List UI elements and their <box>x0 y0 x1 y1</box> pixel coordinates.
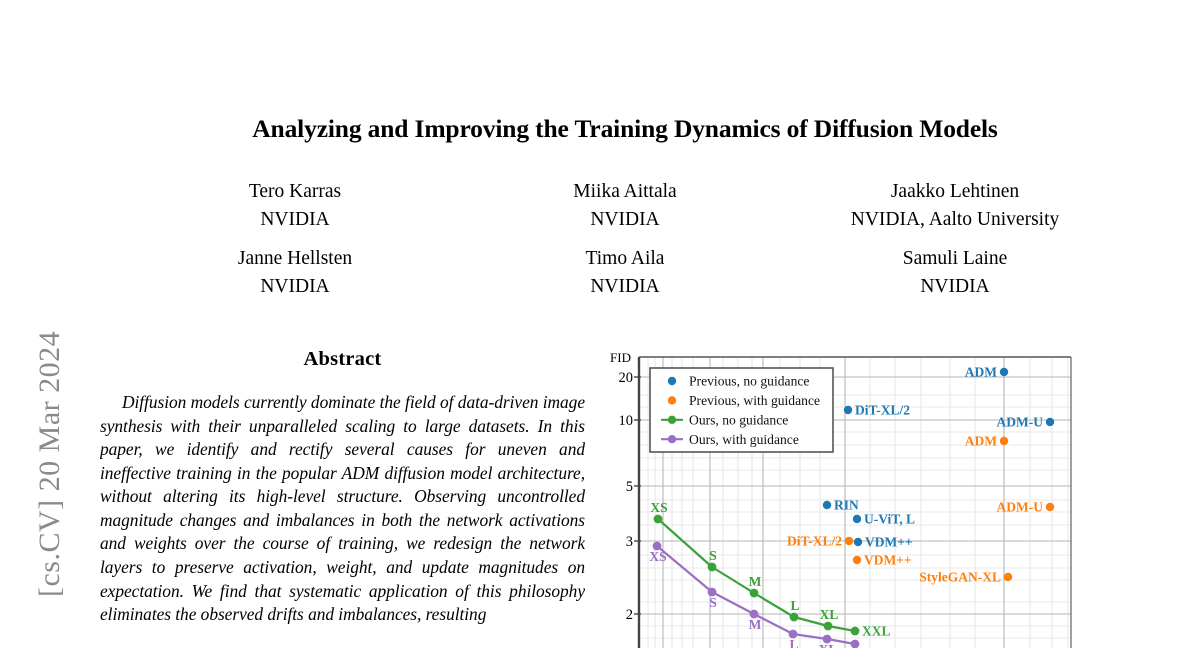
data-point-label: M <box>749 574 762 589</box>
author-row: Janne Hellsten NVIDIA Timo Aila NVIDIA S… <box>130 245 1120 300</box>
data-point-label: ADM-U <box>997 415 1044 430</box>
legend-item-label: Previous, with guidance <box>689 393 820 408</box>
data-point-label: XL <box>820 607 839 622</box>
data-point-label: XL <box>819 642 838 648</box>
data-point[interactable] <box>854 538 862 546</box>
data-point[interactable] <box>853 556 861 564</box>
data-point[interactable] <box>1004 573 1012 581</box>
y-tick-label: 5 <box>626 479 633 495</box>
legend-item-label: Ours, with guidance <box>689 432 799 447</box>
abstract-heading: Abstract <box>100 348 585 371</box>
arxiv-side-stamp: [cs.CV] 20 Mar 2024 <box>0 0 90 648</box>
author-row: Tero Karras NVIDIA Miika Aittala NVIDIA … <box>130 178 1120 233</box>
author-entry: Tero Karras NVIDIA <box>130 178 460 233</box>
author-name: Jaakko Lehtinen <box>790 178 1120 206</box>
data-point-label: XS <box>649 549 666 564</box>
data-point[interactable] <box>1046 418 1054 426</box>
author-affiliation: NVIDIA <box>130 273 460 301</box>
page-title: Analyzing and Improving the Training Dyn… <box>120 115 1130 143</box>
author-affiliation: NVIDIA <box>130 206 460 234</box>
data-point-label: S <box>709 595 717 610</box>
arxiv-stamp-text: [cs.CV] 20 Mar 2024 <box>33 37 67 597</box>
abstract-text: Diffusion models currently dominate the … <box>100 391 585 627</box>
data-point-label: ADM <box>965 365 997 380</box>
fid-vs-compute-chart: FID2010532ADMDiT-XL/2ADM-URINU-ViT, LVDM… <box>595 340 1195 648</box>
data-point[interactable] <box>750 589 759 598</box>
data-point-label: L <box>790 598 799 613</box>
data-point[interactable] <box>790 613 799 622</box>
data-point[interactable] <box>851 627 860 636</box>
data-point[interactable] <box>853 515 861 523</box>
data-point-label: XXL <box>862 624 891 639</box>
data-point-label: ADM-U <box>997 500 1044 515</box>
y-tick-label: 2 <box>626 607 633 623</box>
data-point-label: StyleGAN-XL <box>919 570 1001 585</box>
data-point-label: L <box>789 637 798 648</box>
legend-marker-icon <box>668 435 676 443</box>
data-point-label: DiT-XL/2 <box>855 403 910 418</box>
data-point-label: S <box>709 548 717 563</box>
data-point[interactable] <box>823 501 831 509</box>
data-point[interactable] <box>654 515 663 524</box>
y-tick-label: 20 <box>619 370 634 386</box>
y-axis-label: FID <box>610 350 631 365</box>
data-point-label: DiT-XL/2 <box>787 534 842 549</box>
data-point-label: VDM++ <box>865 535 913 550</box>
paper-page: Analyzing and Improving the Training Dyn… <box>90 0 1200 648</box>
author-affiliation: NVIDIA <box>460 273 790 301</box>
author-affiliation: NVIDIA <box>460 206 790 234</box>
abstract-section: Abstract Diffusion models currently domi… <box>100 348 585 648</box>
author-name: Miika Aittala <box>460 178 790 206</box>
author-entry: Jaakko Lehtinen NVIDIA, Aalto University <box>790 178 1120 233</box>
author-affiliation: NVIDIA, Aalto University <box>790 206 1120 234</box>
data-point-label: RIN <box>834 498 859 513</box>
author-name: Timo Aila <box>460 245 790 273</box>
data-point[interactable] <box>1046 503 1054 511</box>
data-point-label: ADM <box>965 434 997 449</box>
data-point-label: VDM++ <box>864 553 912 568</box>
author-name: Samuli Laine <box>790 245 1120 273</box>
legend-marker-icon <box>668 396 676 404</box>
legend-marker-icon <box>668 416 676 424</box>
legend-item-label: Previous, no guidance <box>689 374 809 389</box>
author-entry: Janne Hellsten NVIDIA <box>130 245 460 300</box>
data-point[interactable] <box>708 563 717 572</box>
author-affiliation: NVIDIA <box>790 273 1120 301</box>
data-point-label: XS <box>650 500 667 515</box>
figure-fid-scatter: FID2010532ADMDiT-XL/2ADM-URINU-ViT, LVDM… <box>595 340 1195 648</box>
legend-item[interactable]: Previous, with guidance <box>668 393 820 408</box>
legend-marker-icon <box>668 377 676 385</box>
author-name: Janne Hellsten <box>130 245 460 273</box>
data-point-label: U-ViT, L <box>864 512 915 527</box>
data-point[interactable] <box>1000 437 1008 445</box>
chart-legend: Previous, no guidancePrevious, with guid… <box>650 368 833 452</box>
author-block: Tero Karras NVIDIA Miika Aittala NVIDIA … <box>130 178 1120 313</box>
data-point[interactable] <box>845 537 853 545</box>
legend-item[interactable]: Previous, no guidance <box>668 374 810 389</box>
author-entry: Timo Aila NVIDIA <box>460 245 790 300</box>
y-tick-label: 10 <box>619 413 634 429</box>
data-point-label: M <box>749 617 762 632</box>
data-point[interactable] <box>844 406 852 414</box>
legend-item-label: Ours, no guidance <box>689 412 788 427</box>
y-tick-label: 3 <box>626 534 633 550</box>
data-point[interactable] <box>824 622 833 631</box>
author-name: Tero Karras <box>130 178 460 206</box>
author-entry: Miika Aittala NVIDIA <box>460 178 790 233</box>
author-entry: Samuli Laine NVIDIA <box>790 245 1120 300</box>
data-point[interactable] <box>1000 368 1008 376</box>
